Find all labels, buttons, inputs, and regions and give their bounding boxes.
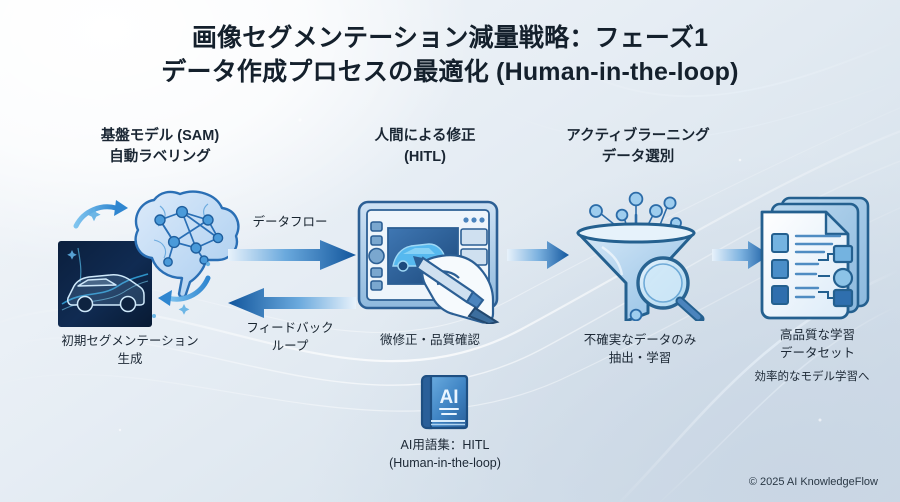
glossary-line-2: (Human-in-the-loop) bbox=[360, 454, 530, 472]
ai-book-label: AI bbox=[440, 387, 459, 408]
caption-line-2: 抽出・学習 bbox=[550, 349, 730, 367]
documents-flowchart-icon bbox=[748, 192, 880, 320]
copyright-footer: © 2025 AI KnowledgeFlow bbox=[749, 476, 878, 488]
heading-line-1: アクティブラーニング bbox=[533, 126, 743, 147]
feedback-loop-label-line-2: ループ bbox=[217, 338, 363, 356]
arrow-label-data-flow: データフロー bbox=[222, 214, 358, 232]
caption-glossary: AI用語集：HITL (Human-in-the-loop) bbox=[360, 436, 530, 472]
title-line-1: 画像セグメンテーション減量戦略：フェーズ1 bbox=[192, 24, 708, 52]
caption-line-3: 効率的なモデル学習へ bbox=[724, 369, 900, 386]
arrow-label-feedback-loop: フィードバック ループ bbox=[217, 320, 363, 355]
brain-car-icon bbox=[58, 186, 243, 331]
caption-line-1: 高品質な学習 bbox=[735, 326, 900, 344]
caption-line-2: データセット bbox=[735, 344, 900, 362]
column-heading-foundation-model: 基盤モデル (SAM) 自動ラベリング bbox=[45, 126, 275, 168]
heading-line-1: 人間による修正 bbox=[330, 126, 520, 147]
caption-line-1: 初期セグメンテーション bbox=[30, 332, 230, 350]
data-flow-label: データフロー bbox=[252, 215, 327, 229]
tablet-stylus-icon bbox=[357, 196, 505, 324]
column-heading-human-in-the-loop: 人間による修正 (HITL) bbox=[330, 126, 520, 168]
heading-line-2: (HITL) bbox=[330, 147, 520, 168]
feedback-loop-label-line-1: フィードバック bbox=[217, 320, 363, 338]
ai-book-icon: AI bbox=[418, 375, 472, 431]
page-title: 画像セグメンテーション減量戦略：フェーズ1 データ作成プロセスの最適化 (Hum… bbox=[0, 22, 900, 89]
title-line-2: データ作成プロセスの最適化 (Human-in-the-loop) bbox=[0, 56, 900, 90]
caption-active-learning: 不確実なデータのみ 抽出・学習 bbox=[550, 331, 730, 367]
caption-dataset: 高品質な学習 データセット bbox=[735, 326, 900, 362]
caption-foundation-model: 初期セグメンテーション 生成 bbox=[30, 332, 230, 368]
caption-dataset-extra: 効率的なモデル学習へ bbox=[724, 369, 900, 386]
caption-human-in-the-loop: 微修正・品質確認 bbox=[350, 331, 510, 349]
funnel-magnifier-icon bbox=[562, 191, 710, 321]
heading-line-1: 基盤モデル (SAM) bbox=[45, 126, 275, 147]
arrow-right-data-flow bbox=[228, 240, 356, 270]
infographic-canvas: 画像セグメンテーション減量戦略：フェーズ1 データ作成プロセスの最適化 (Hum… bbox=[0, 0, 900, 502]
arrow-left-feedback-loop bbox=[228, 288, 356, 318]
heading-line-2: 自動ラベリング bbox=[45, 147, 275, 168]
heading-line-2: データ選別 bbox=[533, 147, 743, 168]
glossary-line-1: AI用語集：HITL bbox=[360, 436, 530, 454]
caption-line-2: 生成 bbox=[30, 350, 230, 368]
column-heading-active-learning: アクティブラーニング データ選別 bbox=[533, 126, 743, 168]
caption-line-1: 不確実なデータのみ bbox=[550, 331, 730, 349]
arrow-right-hitl-to-active-learning bbox=[507, 241, 569, 269]
caption-line-1: 微修正・品質確認 bbox=[350, 331, 510, 349]
